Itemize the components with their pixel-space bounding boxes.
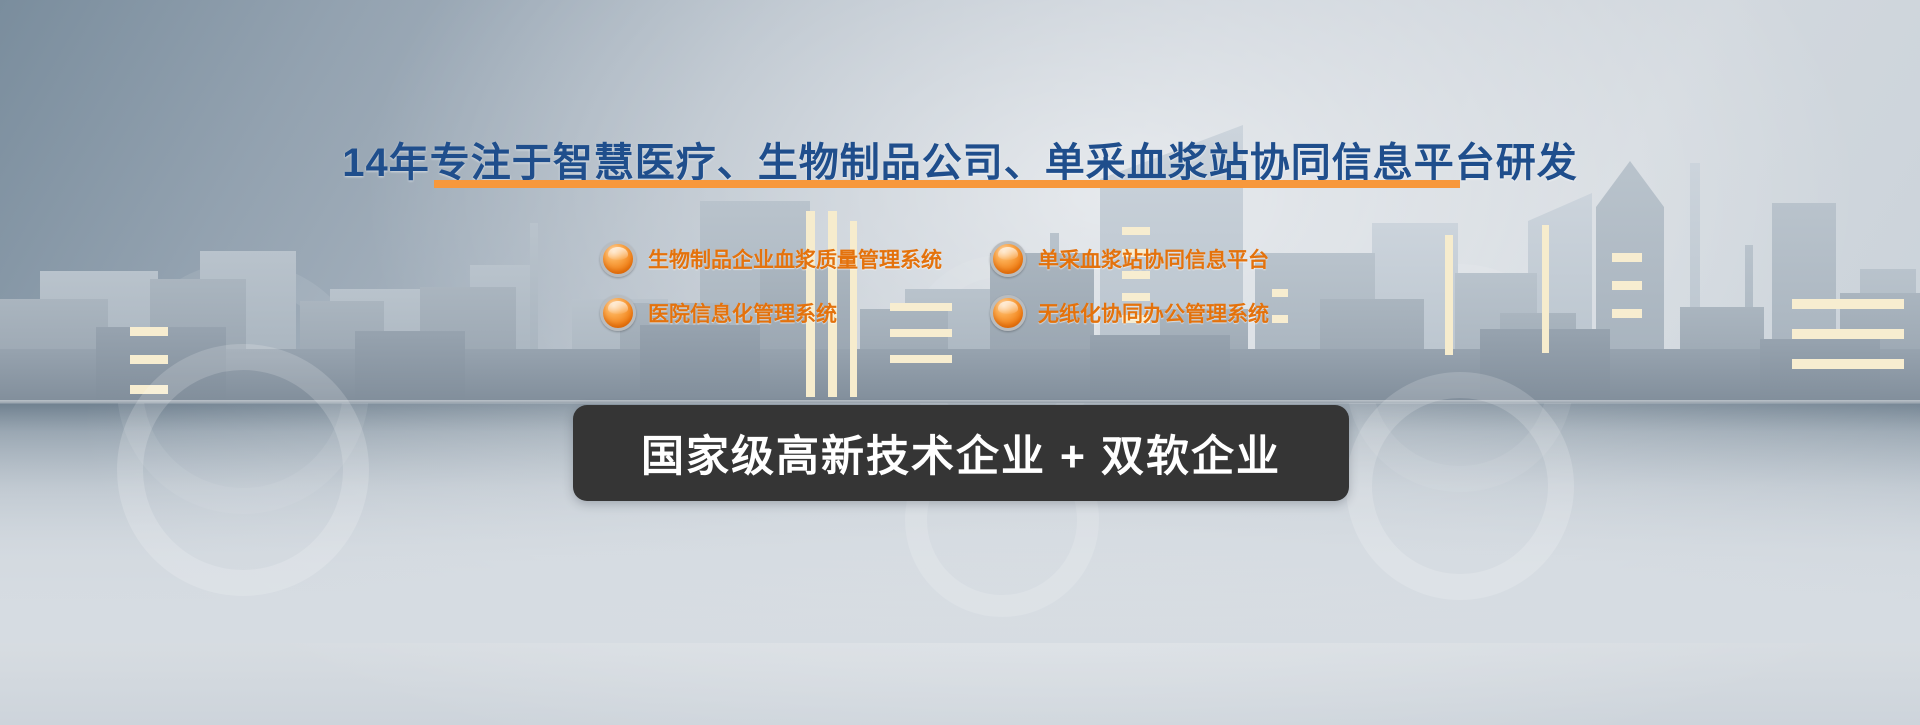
headline-underline-rule — [434, 180, 1460, 188]
orange-sphere-bullet-icon — [990, 241, 1026, 277]
orange-sphere-bullet-icon — [600, 295, 636, 331]
promo-banner: 14年专注于智慧医疗、生物制品公司、单采血浆站协同信息平台研发 生物制品企业血浆… — [0, 0, 1920, 725]
certification-plaque-text: 国家级高新技术企业 + 双软企业 — [641, 422, 1281, 484]
feature-item-label: 单采血浆站协同信息平台 — [1038, 244, 1269, 274]
feature-list: 生物制品企业血浆质量管理系统 单采血浆站协同信息平台 医院信息化管理系统 无纸化… — [600, 232, 1320, 340]
feature-item-label: 生物制品企业血浆质量管理系统 — [648, 244, 942, 274]
feature-item[interactable]: 生物制品企业血浆质量管理系统 — [600, 232, 990, 286]
orange-sphere-bullet-icon — [600, 241, 636, 277]
orange-sphere-bullet-icon — [990, 295, 1026, 331]
feature-item[interactable]: 无纸化协同办公管理系统 — [990, 286, 1320, 340]
feature-item[interactable]: 单采血浆站协同信息平台 — [990, 232, 1320, 286]
feature-item[interactable]: 医院信息化管理系统 — [600, 286, 990, 340]
certification-plaque: 国家级高新技术企业 + 双软企业 — [573, 405, 1349, 501]
feature-item-label: 医院信息化管理系统 — [648, 298, 837, 328]
feature-item-label: 无纸化协同办公管理系统 — [1038, 298, 1269, 328]
city-skyline — [0, 0, 1920, 403]
